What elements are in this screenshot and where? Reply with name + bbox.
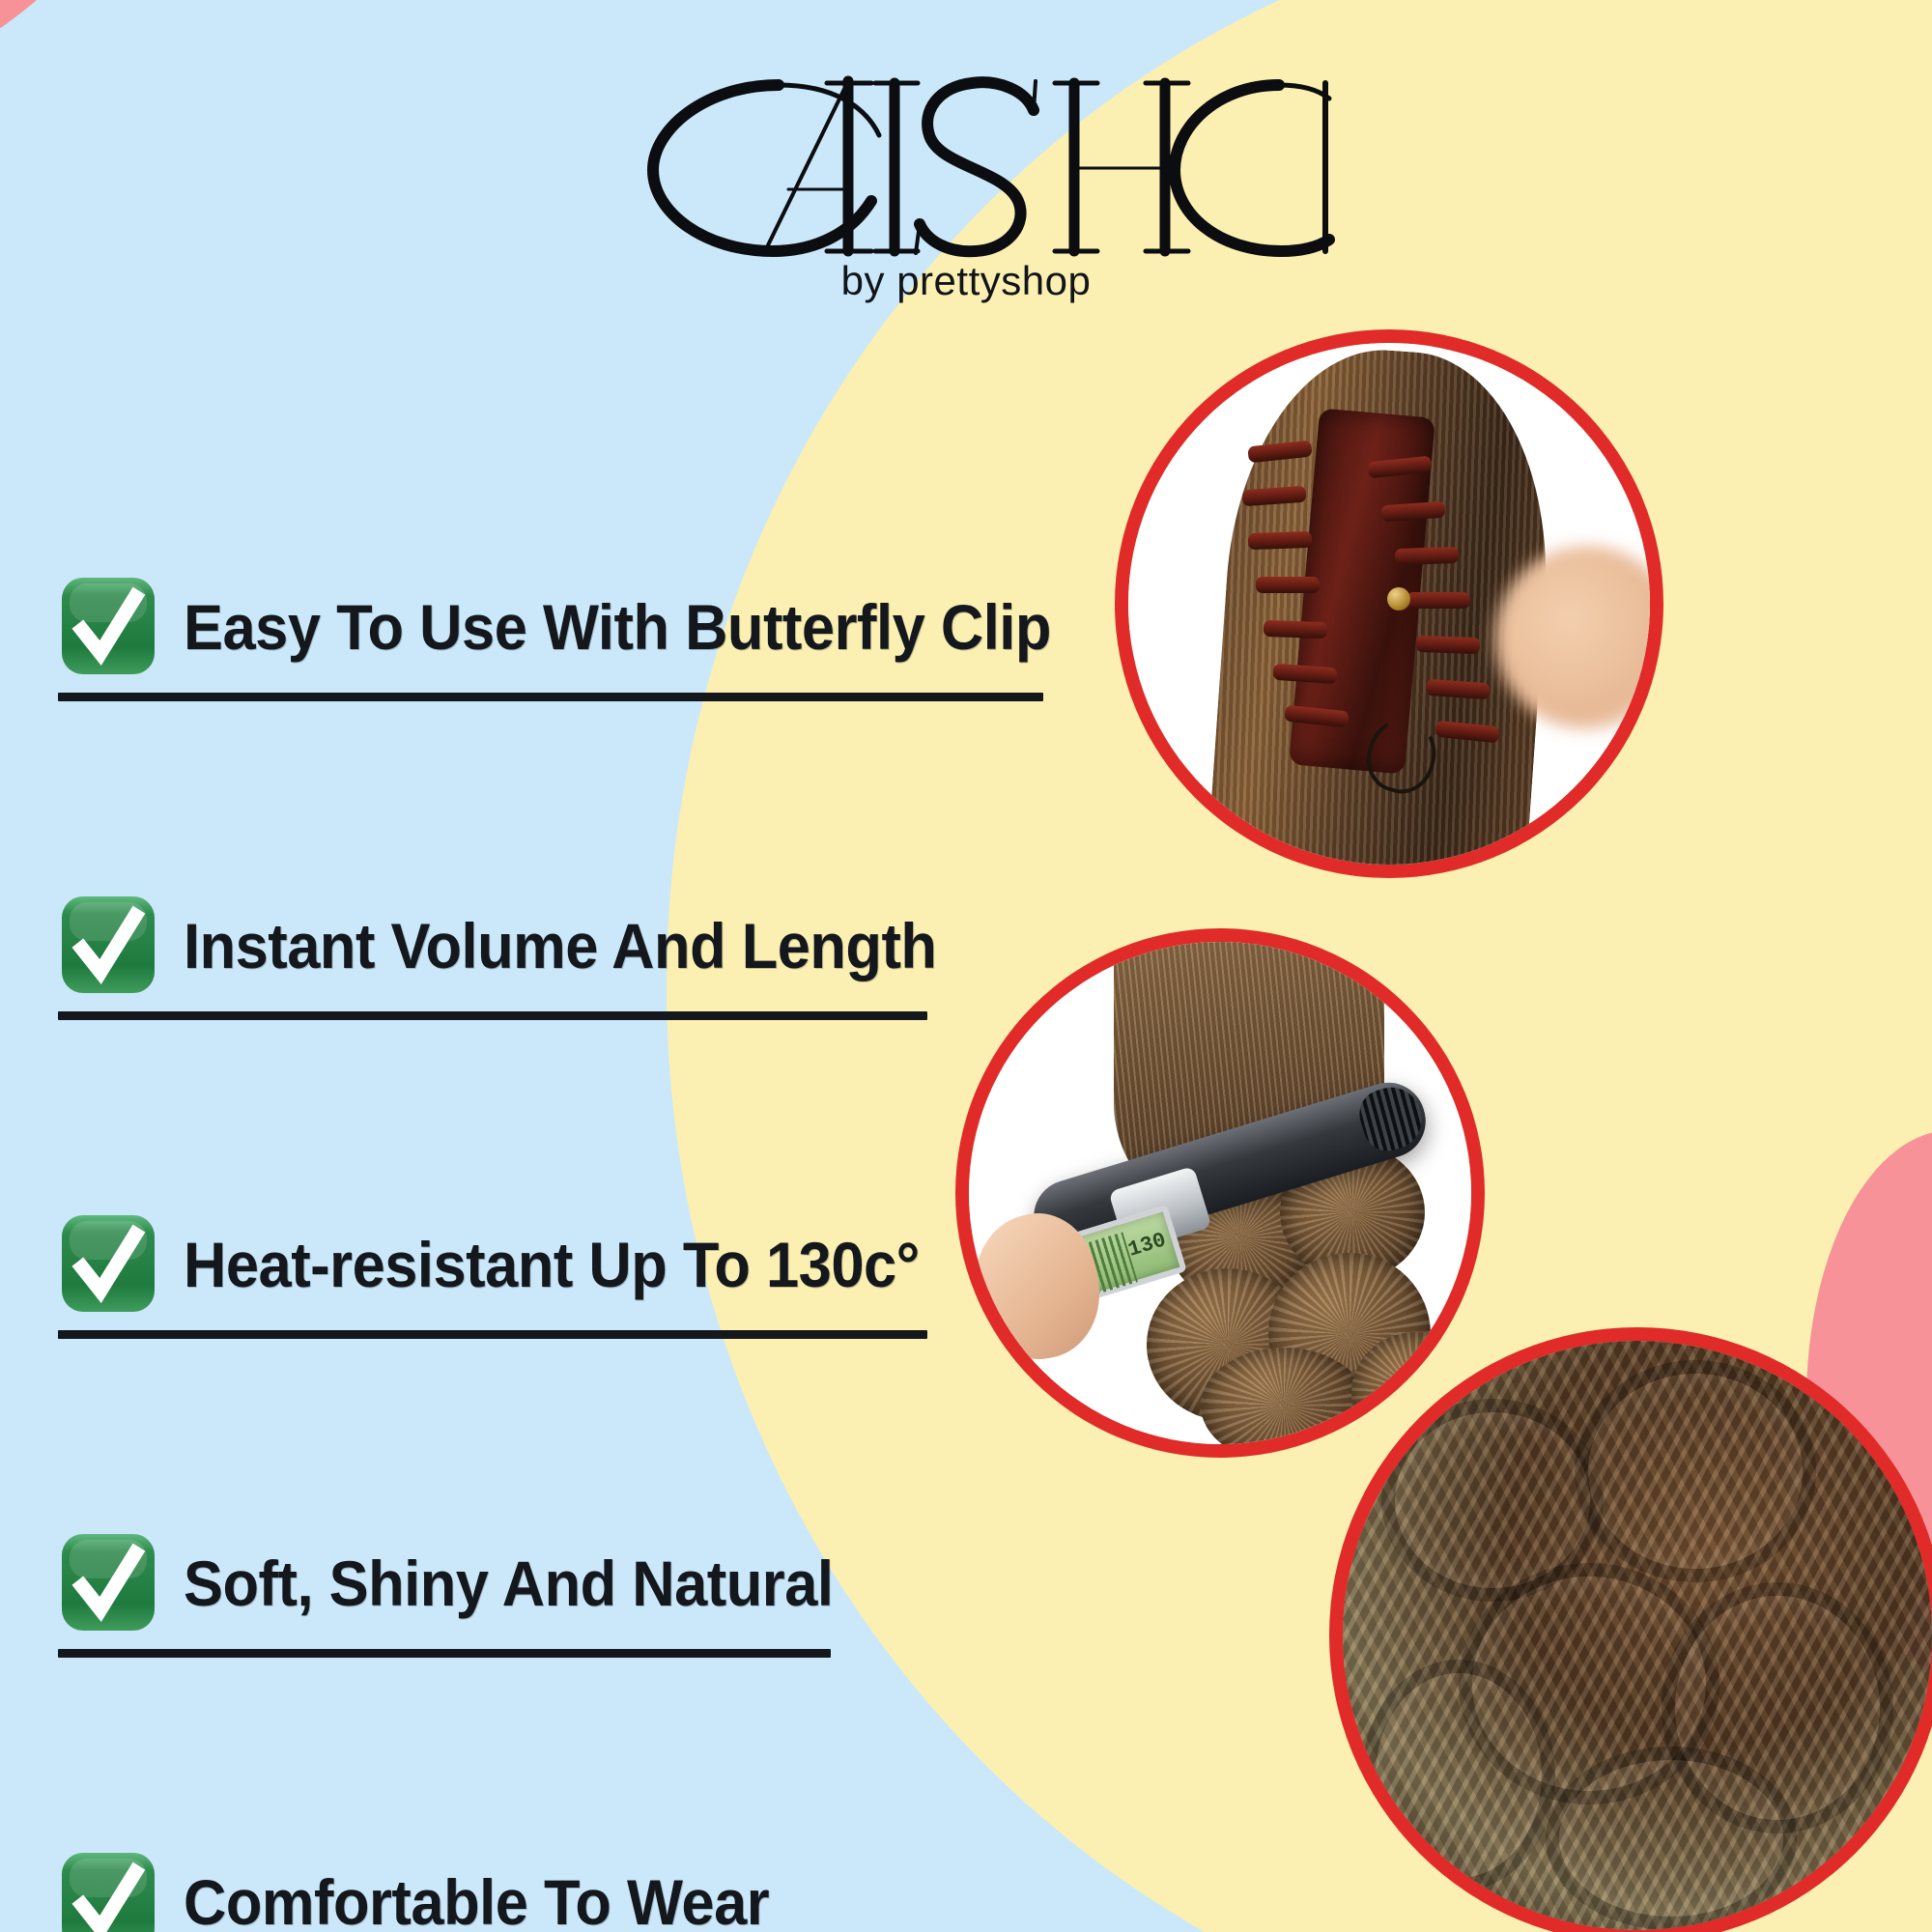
product-photo-butterfly-clip (1128, 343, 1650, 865)
green-check-icon (58, 576, 158, 680)
green-check-icon (58, 1213, 158, 1318)
feature-underline (58, 1330, 927, 1339)
feature-label: Easy To Use With Butterfly Clip (184, 595, 1051, 660)
feature-label: Comfortable To Wear (184, 1870, 769, 1932)
feature-label: Heat-resistant Up To 130c° (184, 1233, 920, 1297)
feature-label: Instant Volume And Length (184, 914, 936, 979)
feature-item: Comfortable To Wear (58, 1835, 1140, 1932)
feature-item: Soft, Shiny And Natural (58, 1517, 1140, 1652)
brand-tagline: by prettyshop (0, 258, 1932, 304)
brand-logo-block: by prettyshop (0, 46, 1932, 304)
feature-label: Soft, Shiny And Natural (184, 1551, 833, 1616)
feature-underline (58, 693, 1043, 701)
feature-underline (58, 1649, 831, 1658)
green-check-icon (58, 1851, 158, 1932)
green-check-icon (58, 895, 158, 999)
feature-item: Easy To Use With Butterfly Clip (58, 560, 1140, 696)
infographic-canvas: by prettyshop Easy To Use With Butt (0, 0, 1932, 1932)
brand-wordmark-caisha (589, 46, 1343, 264)
feature-underline (58, 1011, 927, 1020)
iron-temperature-readout: 130 (1125, 1228, 1169, 1262)
green-check-icon (58, 1532, 158, 1636)
product-photo-curly-hair (1343, 1341, 1932, 1930)
